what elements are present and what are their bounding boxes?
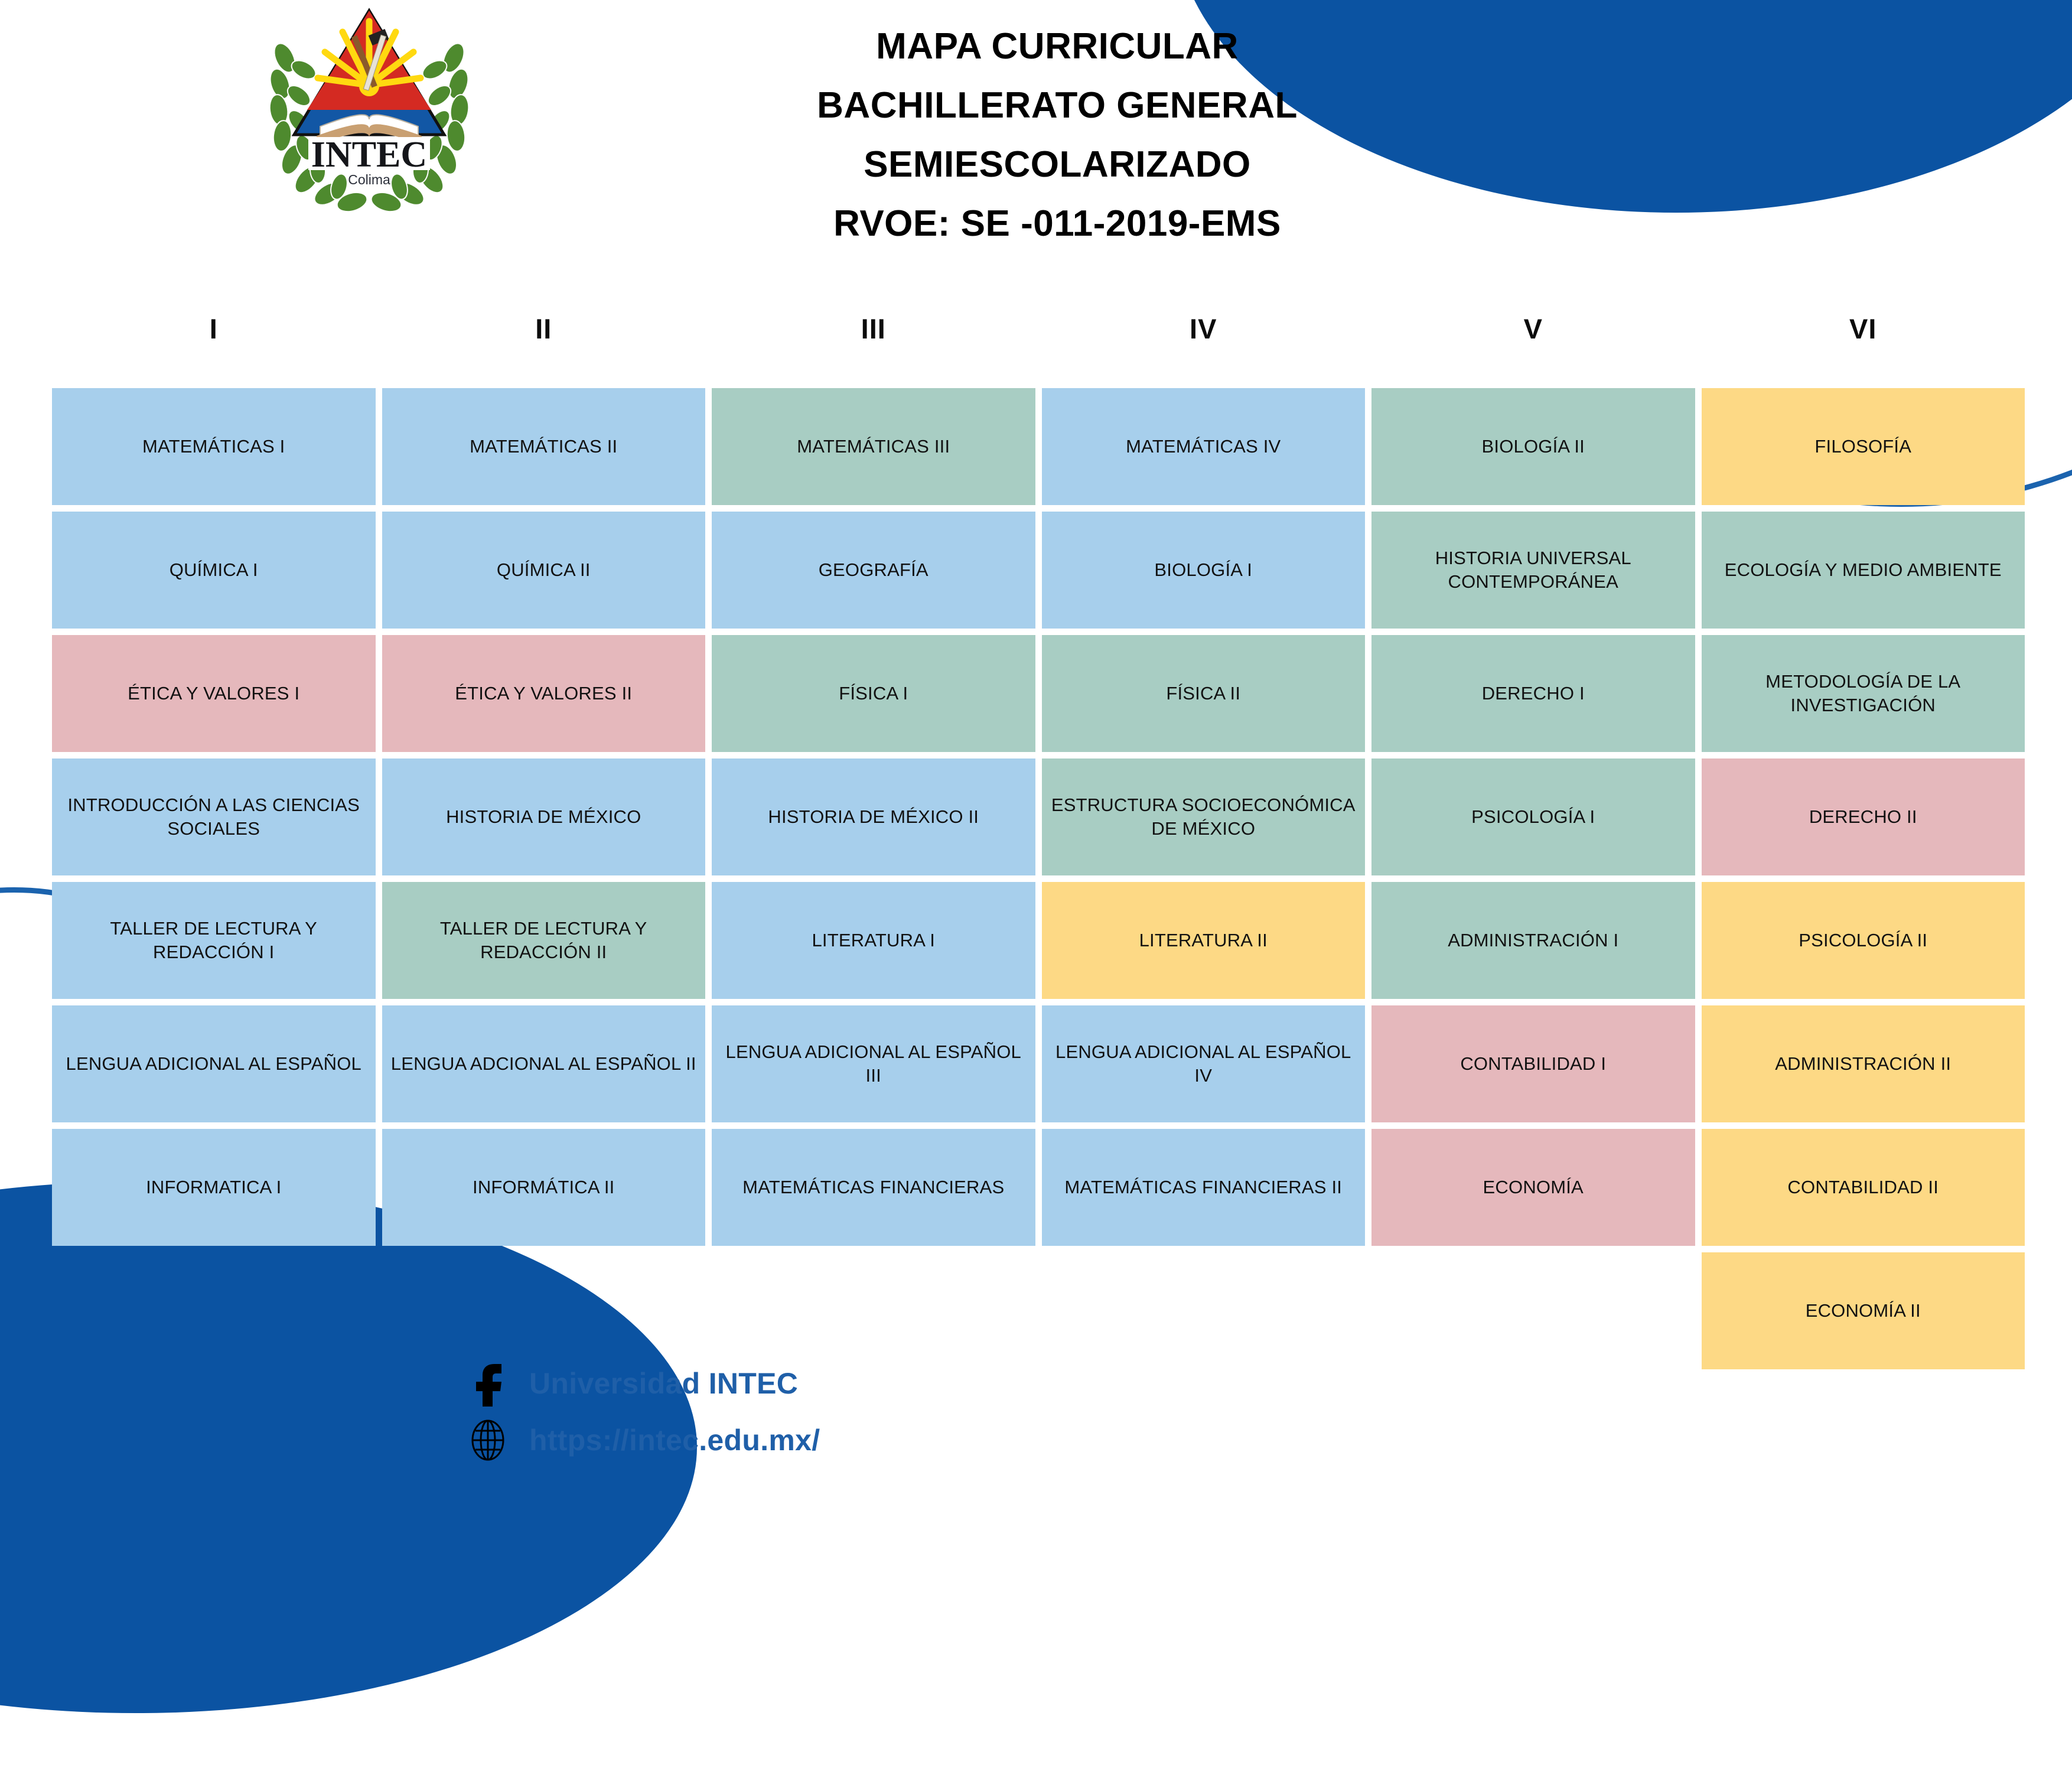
subject-cell-empty [1042, 1252, 1366, 1369]
curriculum-map-poster: INTEC Colima MAPA CURRICULAR BACHILLERAT… [0, 0, 2072, 1465]
poster-footer: Universidad INTEC https://intec.edu.mx/ [467, 1359, 1412, 1472]
subject-cell[interactable]: QUÍMICA I [52, 512, 376, 629]
subject-cell[interactable]: MATEMÁTICAS III [712, 388, 1035, 505]
subject-cell[interactable]: METODOLOGÍA DE LA INVESTIGACIÓN [1702, 635, 2025, 752]
facebook-label: Universidad INTEC [529, 1366, 798, 1401]
subject-cell[interactable]: LENGUA ADICIONAL AL ESPAÑOL IV [1042, 1005, 1366, 1122]
column-header-III: III [712, 305, 1035, 352]
subject-cell[interactable]: HISTORIA UNIVERSAL CONTEMPORÁNEA [1371, 512, 1695, 629]
title-line-2: BACHILLERATO GENERAL [579, 87, 1536, 124]
subject-cell[interactable]: QUÍMICA II [382, 512, 706, 629]
subject-cell[interactable]: HISTORIA DE MÉXICO [382, 758, 706, 875]
subject-cell[interactable]: CONTABILIDAD I [1371, 1005, 1695, 1122]
subject-cell[interactable]: CONTABILIDAD II [1702, 1129, 2025, 1246]
subject-cell[interactable]: GEOGRAFÍA [712, 512, 1035, 629]
subject-cell[interactable]: INFORMÁTICA II [382, 1129, 706, 1246]
intec-logo: INTEC Colima [254, 4, 484, 216]
subject-cell-empty [1371, 1252, 1695, 1369]
subject-cell[interactable]: BIOLOGÍA I [1042, 512, 1366, 629]
subject-cell[interactable]: ADMINISTRACIÓN I [1371, 882, 1695, 999]
column-header-VI: VI [1702, 305, 2025, 352]
subject-cell[interactable]: TALLER DE LECTURA Y REDACCIÓN II [382, 882, 706, 999]
subject-cell[interactable]: INFORMATICA I [52, 1129, 376, 1246]
logo-subtext: Colima [348, 172, 390, 187]
subject-cell[interactable]: ADMINISTRACIÓN II [1702, 1005, 2025, 1122]
column-header-IV: IV [1042, 305, 1366, 352]
subject-cell[interactable]: MATEMÁTICAS I [52, 388, 376, 505]
footer-website-row[interactable]: https://intec.edu.mx/ [467, 1415, 1412, 1465]
subject-cell[interactable]: PSICOLOGÍA I [1371, 758, 1695, 875]
title-line-4-rvoe: RVOE: SE -011-2019-EMS [579, 206, 1536, 242]
subject-cell[interactable]: BIOLOGÍA II [1371, 388, 1695, 505]
subject-cell[interactable]: ECONOMÍA [1371, 1129, 1695, 1246]
subject-cell-empty [382, 1252, 706, 1369]
semester-column-headers: I II III IV V VI [52, 305, 2025, 352]
subject-cell[interactable]: LENGUA ADCIONAL AL ESPAÑOL II [382, 1005, 706, 1122]
title-line-3: SEMIESCOLARIZADO [579, 147, 1536, 183]
poster-title-block: MAPA CURRICULAR BACHILLERATO GENERAL SEM… [579, 28, 1536, 242]
subject-cell[interactable]: DERECHO II [1702, 758, 2025, 875]
curriculum-grid: MATEMÁTICAS IMATEMÁTICAS IIMATEMÁTICAS I… [52, 388, 2025, 1369]
footer-facebook-row[interactable]: Universidad INTEC [467, 1359, 1412, 1408]
facebook-icon [467, 1360, 509, 1407]
subject-cell[interactable]: LENGUA ADICIONAL AL ESPAÑOL [52, 1005, 376, 1122]
subject-cell[interactable]: INTRODUCCIÓN A LAS CIENCIAS SOCIALES [52, 758, 376, 875]
title-line-1: MAPA CURRICULAR [579, 28, 1536, 65]
poster-header: INTEC Colima MAPA CURRICULAR BACHILLERAT… [0, 0, 2072, 307]
subject-cell[interactable]: MATEMÁTICAS FINANCIERAS [712, 1129, 1035, 1246]
subject-cell[interactable]: FILOSOFÍA [1702, 388, 2025, 505]
logo-wordmark: INTEC [311, 135, 427, 175]
globe-icon [467, 1419, 509, 1461]
subject-cell[interactable]: ÉTICA Y VALORES I [52, 635, 376, 752]
column-header-I: I [52, 305, 376, 352]
subject-cell[interactable]: HISTORIA DE MÉXICO II [712, 758, 1035, 875]
subject-cell[interactable]: MATEMÁTICAS IV [1042, 388, 1366, 505]
subject-cell[interactable]: MATEMÁTICAS II [382, 388, 706, 505]
column-header-II: II [382, 305, 706, 352]
subject-cell-empty [52, 1252, 376, 1369]
column-header-V: V [1371, 305, 1695, 352]
subject-cell[interactable]: MATEMÁTICAS FINANCIERAS II [1042, 1129, 1366, 1246]
subject-cell[interactable]: FÍSICA I [712, 635, 1035, 752]
subject-cell[interactable]: LITERATURA I [712, 882, 1035, 999]
subject-cell[interactable]: ECOLOGÍA Y MEDIO AMBIENTE [1702, 512, 2025, 629]
subject-cell[interactable]: LITERATURA II [1042, 882, 1366, 999]
website-label: https://intec.edu.mx/ [529, 1423, 820, 1457]
subject-cell[interactable]: PSICOLOGÍA II [1702, 882, 2025, 999]
subject-cell[interactable]: DERECHO I [1371, 635, 1695, 752]
subject-cell[interactable]: FÍSICA II [1042, 635, 1366, 752]
subject-cell[interactable]: LENGUA ADICIONAL AL ESPAÑOL III [712, 1005, 1035, 1122]
subject-cell[interactable]: ÉTICA Y VALORES II [382, 635, 706, 752]
subject-cell-empty [712, 1252, 1035, 1369]
subject-cell[interactable]: ECONOMÍA II [1702, 1252, 2025, 1369]
subject-cell[interactable]: ESTRUCTURA SOCIOECONÓMICA DE MÉXICO [1042, 758, 1366, 875]
subject-cell[interactable]: TALLER DE LECTURA Y REDACCIÓN I [52, 882, 376, 999]
